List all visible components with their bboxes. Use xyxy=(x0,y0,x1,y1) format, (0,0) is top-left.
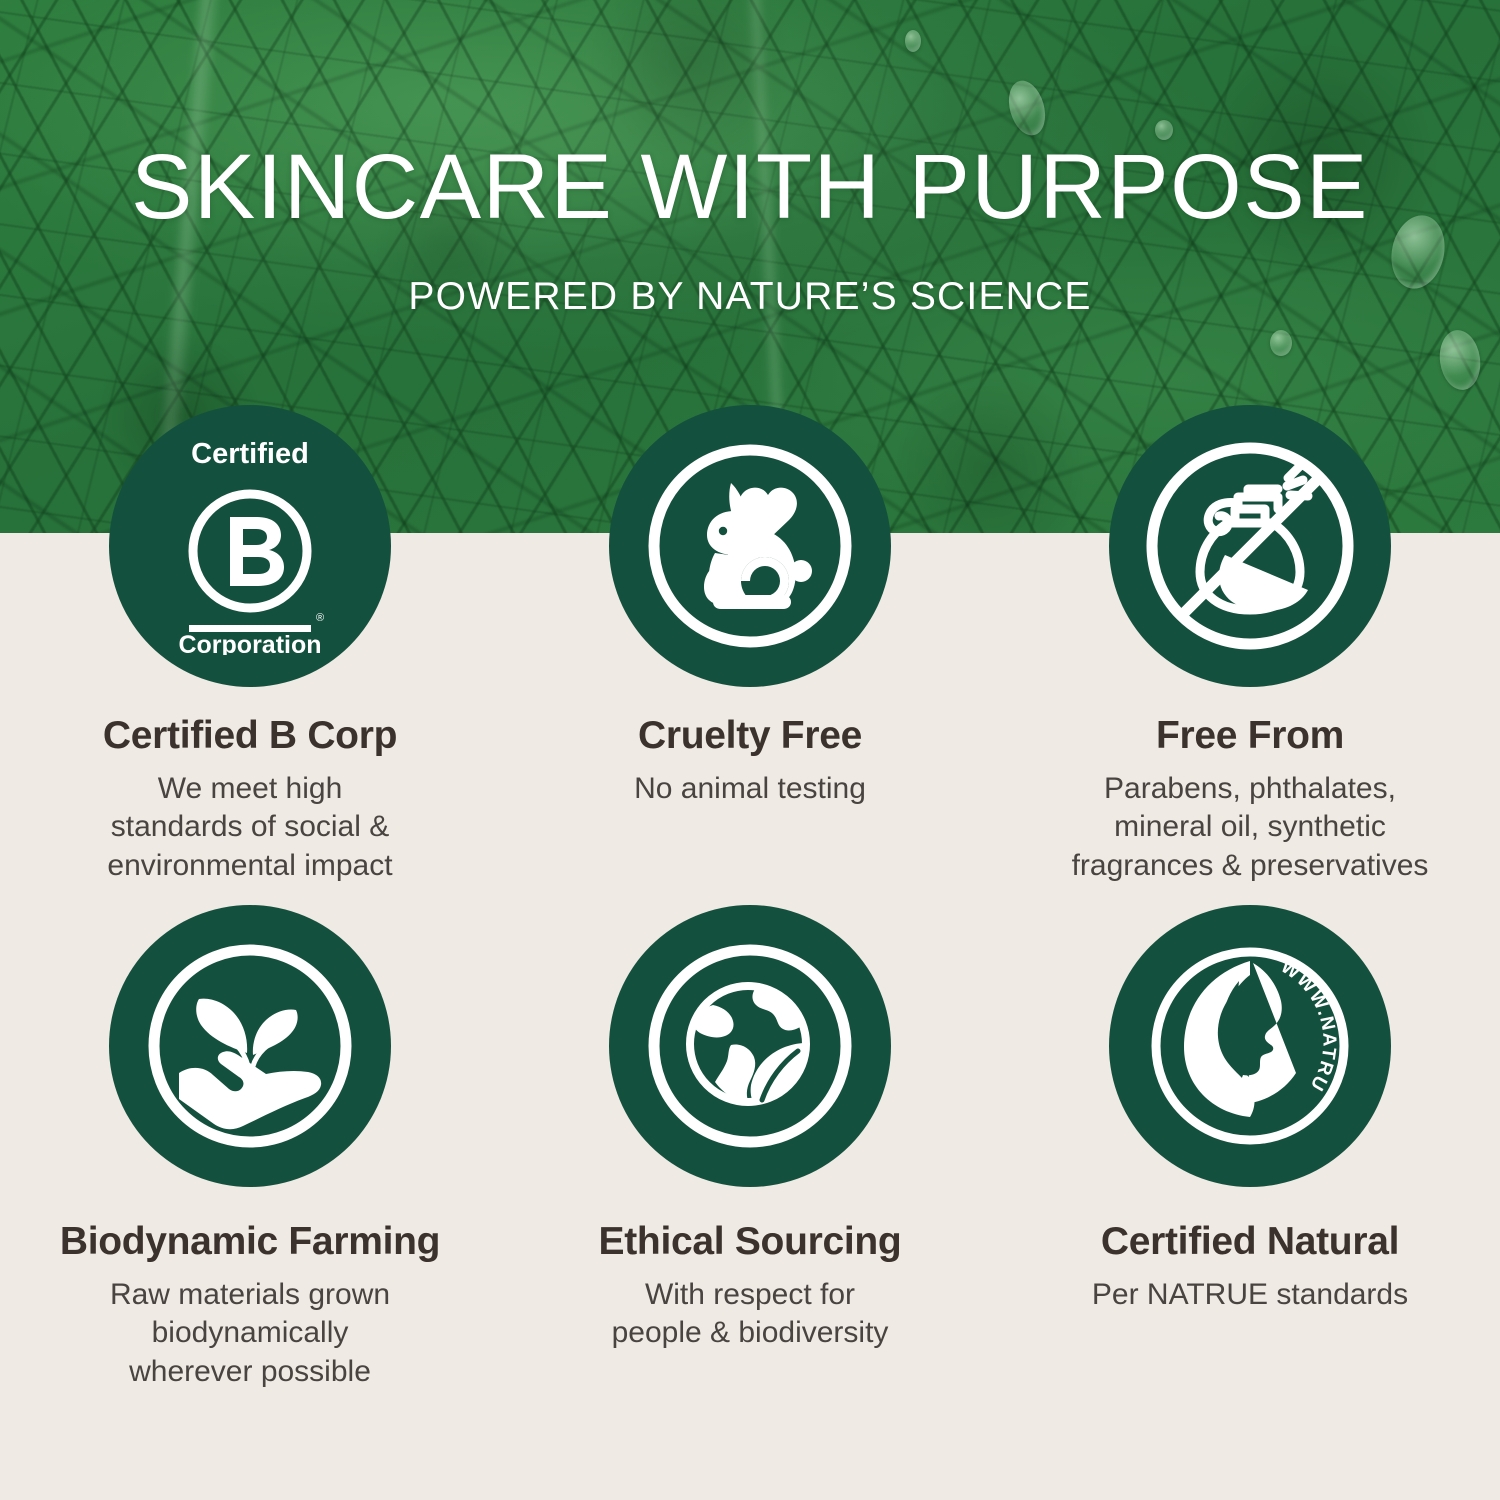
badge-description: No animal testing xyxy=(634,770,866,808)
badge-circle: Certified ® Corporation xyxy=(109,405,391,687)
badge-description-line: We meet high xyxy=(107,770,392,808)
hero-text-block: SKINCARE WITH PURPOSE POWERED BY NATURE’… xyxy=(0,0,1500,316)
hand-sprout-icon xyxy=(135,931,365,1161)
badge-free-from: Free From Parabens, phthalates, mineral … xyxy=(1000,405,1500,885)
natrue-logo-icon: WWW.NATRUE.ORG xyxy=(1135,931,1365,1161)
badge-title: Certified B Corp xyxy=(103,715,397,758)
b-corp-logo-icon: Certified ® Corporation xyxy=(150,437,350,655)
badge-description: We meet high standards of social & envir… xyxy=(107,770,392,885)
badge-ethical-sourcing: Ethical Sourcing With respect for people… xyxy=(500,905,1000,1391)
badge-title: Certified Natural xyxy=(1101,1221,1399,1264)
badge-circle xyxy=(609,905,891,1187)
badge-circle xyxy=(609,405,891,687)
badge-grid-row-1: Certified ® Corporation Certified B Corp… xyxy=(0,405,1500,885)
badge-certified-b-corp: Certified ® Corporation Certified B Corp… xyxy=(0,405,500,885)
svg-text:®: ® xyxy=(316,612,324,624)
promo-infographic: SKINCARE WITH PURPOSE POWERED BY NATURE’… xyxy=(0,0,1500,1500)
badge-grid-row-2: Biodynamic Farming Raw materials grown b… xyxy=(0,905,1500,1391)
badge-title: Free From xyxy=(1156,715,1344,758)
badge-biodynamic-farming: Biodynamic Farming Raw materials grown b… xyxy=(0,905,500,1391)
badge-circle xyxy=(1109,405,1391,687)
badge-description: Per NATRUE standards xyxy=(1092,1276,1408,1314)
badge-cruelty-free: Cruelty Free No animal testing xyxy=(500,405,1000,885)
water-droplet-icon xyxy=(1270,330,1292,356)
badge-certified-natural: WWW.NATRUE.ORG Certified Natural Per NAT… xyxy=(1000,905,1500,1391)
badge-title: Biodynamic Farming xyxy=(60,1221,440,1264)
badge-description-line: Raw materials grown xyxy=(110,1276,390,1314)
badge-description-line: standards of social & xyxy=(107,808,392,846)
badge-description-line: people & biodiversity xyxy=(612,1314,889,1352)
badge-circle: WWW.NATRUE.ORG xyxy=(1109,905,1391,1187)
badge-description: Raw materials grown biodynamically where… xyxy=(110,1276,390,1391)
badge-description-line: biodynamically xyxy=(110,1314,390,1352)
badge-description: Parabens, phthalates, mineral oil, synth… xyxy=(1072,770,1429,885)
svg-text:Corporation: Corporation xyxy=(178,631,321,655)
badge-title: Cruelty Free xyxy=(638,715,862,758)
badge-description-line: Parabens, phthalates, xyxy=(1072,770,1429,808)
badge-title: Ethical Sourcing xyxy=(599,1221,902,1264)
badge-description-line: No animal testing xyxy=(634,770,866,808)
badge-circle xyxy=(109,905,391,1187)
page-title: SKINCARE WITH PURPOSE xyxy=(0,141,1500,233)
rabbit-heart-icon xyxy=(635,431,865,661)
badge-description-line: Per NATRUE standards xyxy=(1092,1276,1408,1314)
no-spray-bottle-icon xyxy=(1135,431,1365,661)
page-subtitle: POWERED BY NATURE’S SCIENCE xyxy=(0,277,1500,316)
svg-text:Certified: Certified xyxy=(191,438,309,470)
globe-leaf-icon xyxy=(635,931,865,1161)
badge-description-line: environmental impact xyxy=(107,847,392,885)
badge-description: With respect for people & biodiversity xyxy=(612,1276,889,1353)
badge-description-line: wherever possible xyxy=(110,1353,390,1391)
badge-description-line: mineral oil, synthetic xyxy=(1072,808,1429,846)
badge-description-line: fragrances & preservatives xyxy=(1072,847,1429,885)
badge-description-line: With respect for xyxy=(612,1276,889,1314)
